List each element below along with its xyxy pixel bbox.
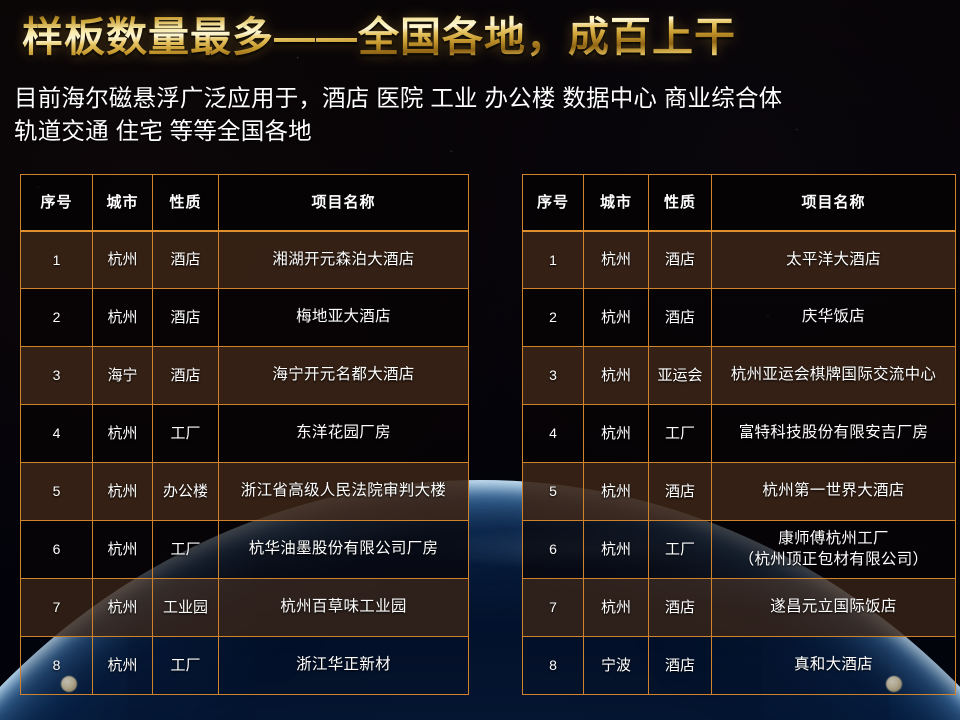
cell-kind: 工厂: [153, 521, 219, 579]
cell-kind: 工厂: [153, 405, 219, 463]
cell-city: 杭州: [584, 289, 649, 347]
cell-no: 3: [523, 347, 584, 405]
cell-name-line-2: （杭州顶正包材有限公司）: [715, 550, 952, 570]
table-row: 7 杭州 酒店 遂昌元立国际饭店: [523, 579, 956, 637]
cell-no: 2: [523, 289, 584, 347]
cell-name: 杭华油墨股份有限公司厂房: [219, 521, 469, 579]
table-row: 4 杭州 工厂 东洋花园厂房: [21, 405, 469, 463]
cell-name: 富特科技股份有限安吉厂房: [712, 405, 956, 463]
cell-name: 真和大酒店: [712, 637, 956, 695]
cell-no: 1: [523, 231, 584, 289]
cell-kind: 办公楼: [153, 463, 219, 521]
cell-name: 庆华饭店: [712, 289, 956, 347]
cell-kind: 酒店: [153, 231, 219, 289]
cell-name: 杭州第一世界大酒店: [712, 463, 956, 521]
cell-name: 东洋花园厂房: [219, 405, 469, 463]
table-row: 6 杭州 工厂 杭华油墨股份有限公司厂房: [21, 521, 469, 579]
cell-city: 杭州: [584, 347, 649, 405]
cell-no: 1: [21, 231, 93, 289]
cell-no: 7: [21, 579, 93, 637]
column-header-name: 项目名称: [712, 175, 956, 231]
column-header-city: 城市: [93, 175, 153, 231]
cell-no: 6: [21, 521, 93, 579]
cell-name-line-1: 康师傅杭州工厂: [778, 530, 889, 547]
table-row: 4 杭州 工厂 富特科技股份有限安吉厂房: [523, 405, 956, 463]
cell-no: 6: [523, 521, 584, 579]
cell-no: 8: [21, 637, 93, 695]
project-table-right: 序号 城市 性质 项目名称 1 杭州 酒店 太平洋大酒店 2 杭州 酒店 庆华饭…: [522, 174, 956, 695]
cell-city: 杭州: [93, 579, 153, 637]
table-row: 5 杭州 办公楼 浙江省高级人民法院审判大楼: [21, 463, 469, 521]
cell-name: 遂昌元立国际饭店: [712, 579, 956, 637]
table-row: 8 杭州 工厂 浙江华正新材: [21, 637, 469, 695]
column-header-kind: 性质: [153, 175, 219, 231]
cell-no: 8: [523, 637, 584, 695]
cell-kind: 酒店: [153, 347, 219, 405]
cell-city: 杭州: [584, 579, 649, 637]
cell-city: 杭州: [93, 521, 153, 579]
cell-kind: 酒店: [649, 289, 712, 347]
cell-kind: 酒店: [153, 289, 219, 347]
cell-city: 杭州: [584, 405, 649, 463]
slide-root: 样板数量最多——全国各地，成百上干 目前海尔磁悬浮广泛应用于，酒店 医院 工业 …: [0, 0, 960, 720]
cell-no: 2: [21, 289, 93, 347]
cell-no: 7: [523, 579, 584, 637]
cell-kind: 亚运会: [649, 347, 712, 405]
cell-kind: 酒店: [649, 463, 712, 521]
table-row: 1 杭州 酒店 太平洋大酒店: [523, 231, 956, 289]
table-header-row: 序号 城市 性质 项目名称: [523, 175, 956, 231]
cell-no: 5: [523, 463, 584, 521]
table-row: 7 杭州 工业园 杭州百草味工业园: [21, 579, 469, 637]
cell-city: 杭州: [93, 637, 153, 695]
table-header-row: 序号 城市 性质 项目名称: [21, 175, 469, 231]
slide-title: 样板数量最多——全国各地，成百上干: [22, 12, 736, 62]
cell-name: 梅地亚大酒店: [219, 289, 469, 347]
cell-city: 杭州: [584, 521, 649, 579]
column-header-kind: 性质: [649, 175, 712, 231]
cell-kind: 酒店: [649, 637, 712, 695]
cell-kind: 工厂: [153, 637, 219, 695]
cell-city: 杭州: [93, 289, 153, 347]
table-row: 2 杭州 酒店 庆华饭店: [523, 289, 956, 347]
table-row: 8 宁波 酒店 真和大酒店: [523, 637, 956, 695]
subtitle-line-1: 目前海尔磁悬浮广泛应用于，酒店 医院 工业 办公楼 数据中心 商业综合体: [14, 82, 944, 115]
cell-name: 杭州亚运会棋牌国际交流中心: [712, 347, 956, 405]
table-row: 3 杭州 亚运会 杭州亚运会棋牌国际交流中心: [523, 347, 956, 405]
project-table-left: 序号 城市 性质 项目名称 1 杭州 酒店 湘湖开元森泊大酒店 2 杭州 酒店 …: [20, 174, 469, 695]
slide-subtitle: 目前海尔磁悬浮广泛应用于，酒店 医院 工业 办公楼 数据中心 商业综合体 轨道交…: [14, 82, 944, 149]
cell-no: 4: [523, 405, 584, 463]
column-header-no: 序号: [523, 175, 584, 231]
cell-city: 杭州: [93, 231, 153, 289]
cell-name: 浙江省高级人民法院审判大楼: [219, 463, 469, 521]
column-header-no: 序号: [21, 175, 93, 231]
table-row: 3 海宁 酒店 海宁开元名都大酒店: [21, 347, 469, 405]
cell-city: 杭州: [93, 463, 153, 521]
column-header-city: 城市: [584, 175, 649, 231]
cell-name: 湘湖开元森泊大酒店: [219, 231, 469, 289]
cell-kind: 工业园: [153, 579, 219, 637]
cell-name: 太平洋大酒店: [712, 231, 956, 289]
cell-no: 5: [21, 463, 93, 521]
cell-city: 杭州: [584, 463, 649, 521]
cell-kind: 酒店: [649, 231, 712, 289]
subtitle-line-2: 轨道交通 住宅 等等全国各地: [14, 115, 944, 148]
cell-no: 3: [21, 347, 93, 405]
cell-name: 海宁开元名都大酒店: [219, 347, 469, 405]
cell-name: 浙江华正新材: [219, 637, 469, 695]
table-row: 2 杭州 酒店 梅地亚大酒店: [21, 289, 469, 347]
column-header-name: 项目名称: [219, 175, 469, 231]
table-row: 1 杭州 酒店 湘湖开元森泊大酒店: [21, 231, 469, 289]
cell-city: 海宁: [93, 347, 153, 405]
cell-city: 杭州: [584, 231, 649, 289]
cell-name: 康师傅杭州工厂 （杭州顶正包材有限公司）: [712, 521, 956, 579]
cell-name: 杭州百草味工业园: [219, 579, 469, 637]
cell-no: 4: [21, 405, 93, 463]
table-row: 6 杭州 工厂 康师傅杭州工厂 （杭州顶正包材有限公司）: [523, 521, 956, 579]
cell-kind: 工厂: [649, 405, 712, 463]
cell-kind: 工厂: [649, 521, 712, 579]
cell-city: 宁波: [584, 637, 649, 695]
cell-city: 杭州: [93, 405, 153, 463]
table-row: 5 杭州 酒店 杭州第一世界大酒店: [523, 463, 956, 521]
cell-kind: 酒店: [649, 579, 712, 637]
